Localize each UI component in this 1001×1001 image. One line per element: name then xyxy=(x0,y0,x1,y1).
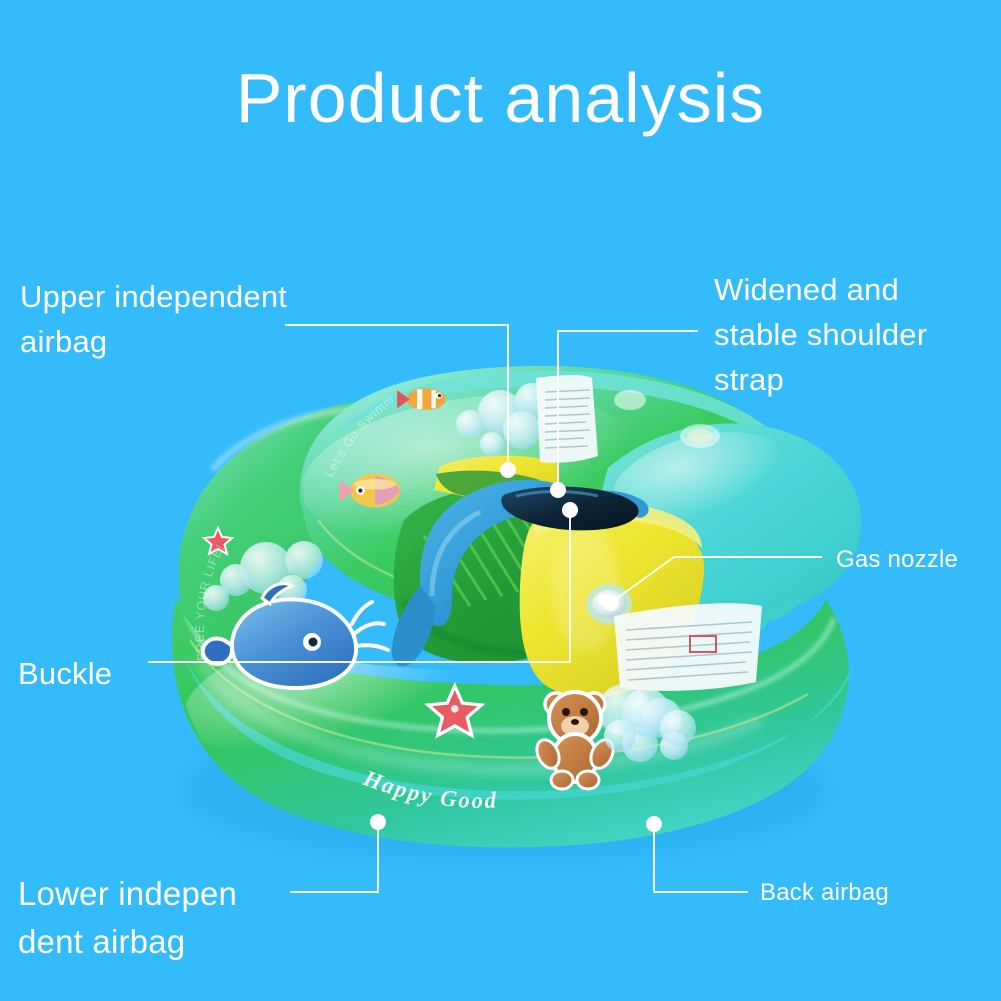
anchor-back-airbag xyxy=(646,816,662,832)
callout-label-upper-independent-airbag: Upper independent airbag xyxy=(20,275,287,365)
anchor-buckle xyxy=(562,502,578,518)
anchor-lower-independent-airbag xyxy=(370,814,386,830)
anchor-upper-independent-airbag xyxy=(500,462,516,478)
leader-lower-independent-airbag xyxy=(290,824,378,892)
callout-leader-lines xyxy=(0,0,1001,1001)
infographic-canvas: Product analysis xyxy=(0,0,1001,1001)
leader-shoulder-strap xyxy=(558,331,698,488)
leader-back-airbag xyxy=(654,826,748,892)
callout-label-buckle: Buckle xyxy=(18,652,112,697)
leader-upper-independent-airbag xyxy=(285,325,508,468)
leader-gas-nozzle xyxy=(612,557,822,602)
anchor-gas-nozzle xyxy=(603,595,619,611)
callout-label-back-airbag: Back airbag xyxy=(760,876,889,911)
anchor-shoulder-strap xyxy=(550,482,566,498)
leader-anchor-dots xyxy=(370,462,662,832)
callout-label-lower-independent-airbag: Lower indepen dent airbag xyxy=(18,870,237,966)
leader-buckle xyxy=(148,512,570,662)
callout-label-widened-stable-shoulder-strap: Widened and stable shoulder strap xyxy=(714,268,927,403)
callout-label-gas-nozzle: Gas nozzle xyxy=(836,543,958,578)
